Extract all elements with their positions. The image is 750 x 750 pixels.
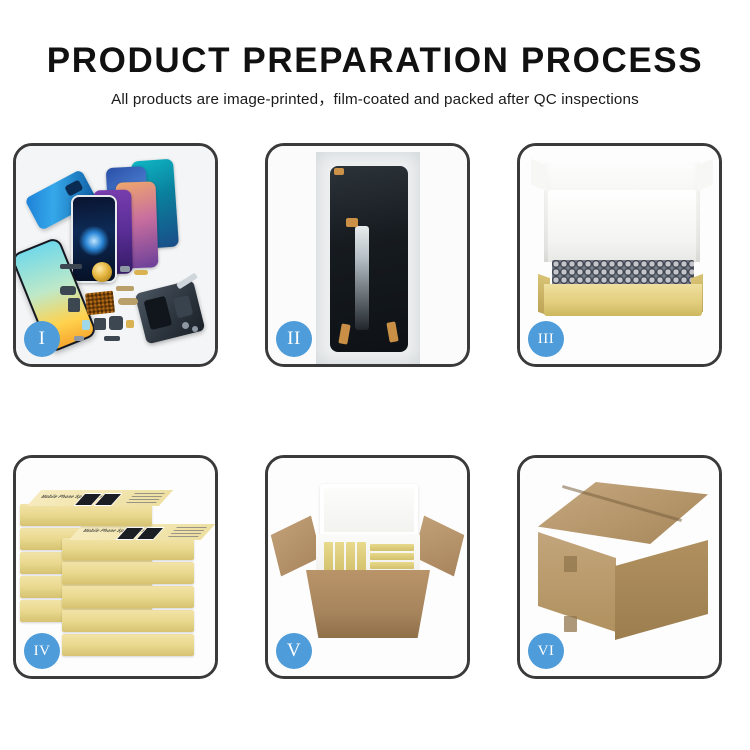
step-1-image: I <box>16 146 215 364</box>
carton-top-face <box>538 482 708 544</box>
retail-box <box>62 562 194 584</box>
foam-sheet <box>548 190 696 262</box>
foam-box-lid <box>320 484 418 536</box>
inner-yellow-box <box>370 544 414 551</box>
spare-part <box>126 320 134 328</box>
spare-part <box>134 270 148 275</box>
step-card-5[interactable]: V <box>265 455 470 679</box>
step-badge-6: VI <box>528 633 564 669</box>
step-4-image: Mobile Phone Spare Parts Mobile Phone Sp… <box>16 458 215 676</box>
bubble-wrap-texture <box>316 152 420 364</box>
spare-part <box>120 266 130 272</box>
box-front-panel <box>544 284 702 316</box>
carton-right-face <box>615 540 708 640</box>
page-header: PRODUCT PREPARATION PROCESS All products… <box>0 0 750 107</box>
inner-yellow-box <box>370 553 414 560</box>
spare-part <box>60 264 82 269</box>
retail-box <box>62 586 194 608</box>
step-3-image: III <box>520 146 719 364</box>
spare-part <box>182 322 189 329</box>
spare-part-chip <box>85 291 115 316</box>
spare-part <box>94 318 106 330</box>
spare-part <box>74 336 84 341</box>
page-subtitle: All products are image-printed，film-coat… <box>0 78 750 107</box>
spare-part <box>116 286 134 291</box>
carton-tape <box>564 556 577 572</box>
spare-part <box>118 298 138 305</box>
retail-box-labeled: Mobile Phone Spare Parts <box>62 538 194 560</box>
carton-body <box>306 570 430 638</box>
inner-yellow-box <box>335 542 344 574</box>
step-card-3[interactable]: III <box>517 143 722 367</box>
retail-box <box>62 634 194 656</box>
step-2-image: II <box>268 146 467 364</box>
step-badge-1: I <box>24 321 60 357</box>
spare-part <box>192 326 198 332</box>
step-5-image: V <box>268 458 467 676</box>
carton-tape <box>564 616 577 632</box>
step-badge-2: II <box>276 321 312 357</box>
step-badge-5: V <box>276 633 312 669</box>
spare-part <box>68 298 80 312</box>
spare-part <box>60 286 76 295</box>
inner-yellow-box <box>346 542 355 574</box>
step-card-1[interactable]: I <box>13 143 218 367</box>
step-badge-4: IV <box>24 633 60 669</box>
retail-box-labeled: Mobile Phone Spare Parts <box>20 504 152 526</box>
step-card-6[interactable]: VI <box>517 455 722 679</box>
page-title: PRODUCT PREPARATION PROCESS <box>0 0 750 78</box>
spare-part <box>104 336 120 341</box>
spare-part <box>82 320 90 330</box>
retail-box <box>62 610 194 632</box>
process-steps-grid: I II <box>13 143 737 679</box>
spare-part <box>109 316 123 330</box>
step-card-4[interactable]: Mobile Phone Spare Parts Mobile Phone Sp… <box>13 455 218 679</box>
inner-yellow-box <box>324 542 333 574</box>
step-card-2[interactable]: II <box>265 143 470 367</box>
step-badge-3: III <box>528 321 564 357</box>
step-6-image: VI <box>520 458 719 676</box>
spare-part-coil <box>92 262 112 282</box>
phone-back-cover <box>135 280 206 345</box>
inner-yellow-box <box>370 562 414 569</box>
inner-yellow-box <box>357 542 366 574</box>
carton-left-face <box>538 532 616 632</box>
